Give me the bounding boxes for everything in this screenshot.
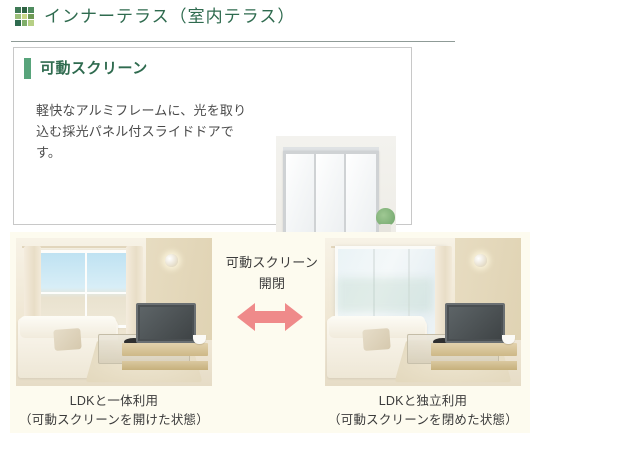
wall-light-icon (474, 254, 487, 267)
card-description: 軽快なアルミフレームに、光を取り込む採光パネル付スライドドアです。 (36, 100, 251, 163)
tv-stand-top (431, 343, 517, 356)
living-room-screen-closed-photo (325, 238, 521, 386)
living-room-screen-open-photo (16, 238, 212, 386)
photo-door-frame (283, 151, 379, 239)
center-label-line1: 可動スクリーン (217, 252, 327, 273)
photo-door-pane (286, 154, 316, 236)
photo-door-pane (316, 154, 346, 236)
tv-stand-top (122, 343, 208, 356)
tv-stand-base (122, 361, 208, 370)
grid-squares-icon (15, 7, 34, 26)
accent-bar (24, 58, 31, 79)
screen-backlight (337, 278, 433, 312)
cushion (362, 328, 390, 351)
double-arrow-icon (237, 300, 303, 334)
center-label-line2: 開閉 (217, 273, 327, 294)
photo-door-pane (346, 154, 376, 236)
tv-screen (140, 307, 192, 339)
caption-right-line2: （可動スクリーンを閉めた状態） (319, 411, 527, 430)
caption-right: LDKと独立利用 （可動スクリーンを閉めた状態） (319, 392, 527, 430)
television (136, 303, 196, 343)
caption-left: LDKと一体利用 （可動スクリーンを開けた状態） (10, 392, 218, 430)
cushion (53, 328, 81, 351)
tv-stand-base (431, 361, 517, 370)
header-divider (11, 41, 455, 42)
tv-screen (449, 307, 501, 339)
movable-screen-card: 可動スクリーン 軽快なアルミフレームに、光を取り込む採光パネル付スライドドアです… (13, 47, 412, 225)
caption-left-line2: （可動スクリーンを開けた状態） (10, 411, 218, 430)
card-header: 可動スクリーン (24, 58, 148, 79)
caption-left-line1: LDKと一体利用 (10, 392, 218, 411)
television (445, 303, 505, 343)
card-title: 可動スクリーン (40, 58, 148, 79)
center-label: 可動スクリーン 開閉 (217, 252, 327, 294)
page-header: インナーテラス（室内テラス） (0, 0, 640, 42)
wall-light-icon (165, 254, 178, 267)
caption-right-line1: LDKと独立利用 (319, 392, 527, 411)
page-title: インナーテラス（室内テラス） (44, 5, 295, 29)
